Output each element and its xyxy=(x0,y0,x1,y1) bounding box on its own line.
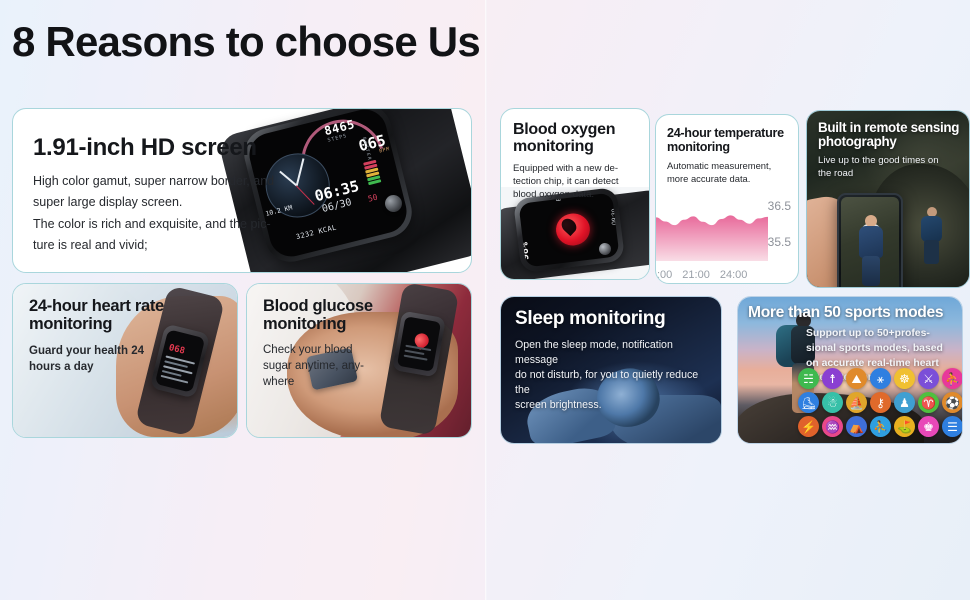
hd-screen-body-line: The color is rich and exquisite, and the… xyxy=(33,214,283,236)
sleep-title: Sleep monitoring xyxy=(515,309,709,330)
phone-viewfinder xyxy=(837,193,903,288)
sports-body-line: sional sports modes, based xyxy=(806,342,954,357)
sports-body-line: Support up to 50+profes- xyxy=(806,327,954,342)
watch-bpm-label: BPM xyxy=(379,146,391,154)
card-remote-photography[interactable]: Built in remote sensing photography Live… xyxy=(806,110,970,288)
sleep-text-block: Sleep monitoring Open the sleep mode, no… xyxy=(515,309,709,413)
temperature-title: 24-hour temperature monitoring xyxy=(667,126,789,154)
swimming-icon[interactable]: ♒ xyxy=(822,416,843,437)
blood-oxygen-title: Blood oxygen monitoring xyxy=(513,121,639,156)
running-icon[interactable]: ⛹ xyxy=(942,368,963,389)
hd-screen-text-block: 1.91-inch HD screen High color gamut, su… xyxy=(33,135,283,257)
jumping-icon[interactable]: ♈ xyxy=(918,392,939,413)
hd-screen-body-line: ture is real and vivid; xyxy=(33,235,283,257)
watch-calories-value: 3232 KCAL xyxy=(295,223,337,241)
sports-title-block: More than 50 sports modes xyxy=(748,305,954,322)
temperature-body: Automatic measurement, more accurate dat… xyxy=(667,160,789,186)
temperature-y-tick-high: 36.5 xyxy=(768,199,791,213)
sports-title: More than 50 sports modes xyxy=(748,305,954,322)
blood-oxygen-body-line: tection chip, it can detect xyxy=(513,175,639,188)
card-hd-screen[interactable]: 8465 STEPS 065 BPM 06:35 06/30 50 10.2 K… xyxy=(12,108,472,273)
tennis-icon[interactable]: ♚ xyxy=(918,416,939,437)
blood-glucose-body: Check your blood sugar anytime, any- whe… xyxy=(263,342,403,391)
remote-photography-text-block: Built in remote sensing photography Live… xyxy=(818,121,960,181)
sports-modes-icon-grid: ☵☨⛰⚹☸⚔⛹⛸☃⛵⚷♟♈⚽⚡♒⛺⛹⛳♚☰ xyxy=(798,368,956,437)
stretch-icon[interactable]: ☸ xyxy=(894,368,915,389)
page-title: 8 Reasons to choose Us xyxy=(12,18,480,66)
card-heart-rate[interactable]: 068 24-hour heart rate monitoring Guard … xyxy=(12,283,238,438)
golf-icon[interactable]: ⛳ xyxy=(894,416,915,437)
sleep-body-line: do not disturb, for you to quietly reduc… xyxy=(515,368,709,398)
remote-photography-body: Live up to the good times on the road xyxy=(818,155,960,181)
hiker-figure xyxy=(855,215,887,287)
heart-rate-text-block: 24-hour heart rate monitoring Guard your… xyxy=(29,298,179,376)
hd-screen-body-line: super large display screen. xyxy=(33,192,283,214)
heart-rate-title: 24-hour heart rate monitoring xyxy=(29,298,179,334)
temperature-x-tick: 24:00 xyxy=(720,269,748,281)
remote-photography-body-line: Live up to the good times on xyxy=(818,155,960,168)
blood-glucose-text-block: Blood glucose monitoring Check your bloo… xyxy=(263,298,403,391)
sleep-body: Open the sleep mode, notification messag… xyxy=(515,338,709,413)
blood-oxygen-photo: 98% Blood 09:30 xyxy=(501,187,649,279)
skating-icon[interactable]: ⛸ xyxy=(798,392,819,413)
temperature-body-line: more accurate data. xyxy=(667,173,789,186)
card-temperature[interactable]: 24-hour temperature monitoring Automatic… xyxy=(655,114,799,284)
temperature-x-axis: :00 21:00 24:00 xyxy=(656,269,798,281)
second-hiker-figure xyxy=(919,207,945,265)
temperature-chart: 36.5 35.5 :00 21:00 24:00 xyxy=(656,193,798,283)
climbing-icon[interactable]: ⛰ xyxy=(846,368,867,389)
blood-oxygen-body-line: blood oxygen data. xyxy=(513,188,639,201)
temperature-body-line: Automatic measurement, xyxy=(667,160,789,173)
heart-rate-body-line: Guard your health 24 xyxy=(29,343,179,360)
heart-rate-body-line: hours a day xyxy=(29,359,179,376)
hd-screen-body-line: High color gamut, super narrow border, a… xyxy=(33,171,283,193)
card-sports-modes[interactable]: More than 50 sports modes Support up to … xyxy=(737,296,963,444)
watch-seconds-value: 50 xyxy=(367,193,379,204)
sleep-body-line: Open the sleep mode, notification messag… xyxy=(515,338,709,368)
blood-oxygen-text-block: Blood oxygen monitoring Equipped with a … xyxy=(513,121,639,201)
temperature-x-tick: :00 xyxy=(657,269,672,281)
temperature-x-tick: 21:00 xyxy=(682,269,710,281)
football-icon[interactable]: ⚽ xyxy=(942,392,963,413)
infographic-background: 8 Reasons to choose Us 8465 STEPS 065 BP… xyxy=(0,0,970,600)
temperature-area-plot xyxy=(656,193,768,261)
sleep-body-line: screen brightness. xyxy=(515,398,709,413)
walking-icon[interactable]: ☵ xyxy=(798,368,819,389)
hd-screen-title: 1.91-inch HD screen xyxy=(33,135,283,161)
oxygen-drop-icon xyxy=(554,212,592,248)
card-blood-oxygen[interactable]: Blood oxygen monitoring Equipped with a … xyxy=(500,108,650,280)
blood-oxygen-body: Equipped with a new de- tection chip, it… xyxy=(513,162,639,201)
temperature-y-tick-low: 35.5 xyxy=(768,235,791,249)
cycling-icon[interactable]: ⚷ xyxy=(870,392,891,413)
hd-screen-body: High color gamut, super narrow border, a… xyxy=(33,171,283,257)
remote-photography-title: Built in remote sensing photography xyxy=(818,121,960,150)
temperature-text-block: 24-hour temperature monitoring Automatic… xyxy=(667,126,789,186)
dance-icon[interactable]: ⚔ xyxy=(918,368,939,389)
remote-photography-body-line: the road xyxy=(818,168,960,181)
basketball-icon[interactable]: ⛹ xyxy=(870,416,891,437)
blood-glucose-body-line: Check your blood xyxy=(263,342,403,358)
blood-glucose-body-line: sugar anytime, any- xyxy=(263,358,403,374)
card-sleep-monitoring[interactable]: Sleep monitoring Open the sleep mode, no… xyxy=(500,296,722,444)
yoga-icon[interactable]: ☨ xyxy=(822,368,843,389)
situp-icon[interactable]: ☰ xyxy=(942,416,963,437)
rowing-icon[interactable]: ⛵ xyxy=(846,392,867,413)
blood-oxygen-body-line: Equipped with a new de- xyxy=(513,162,639,175)
aerobics-icon[interactable]: ☃ xyxy=(822,392,843,413)
boxing-icon[interactable]: ⚡ xyxy=(798,416,819,437)
spo2-watch-screen: 98% Blood 09:30 xyxy=(518,193,619,268)
glucose-watch-screen xyxy=(397,316,441,371)
sitting-icon[interactable]: ♟ xyxy=(894,392,915,413)
card-blood-glucose[interactable]: Blood glucose monitoring Check your bloo… xyxy=(246,283,472,438)
hiking-icon[interactable]: ⛺ xyxy=(846,416,867,437)
heart-rate-body: Guard your health 24 hours a day xyxy=(29,343,179,376)
blood-glucose-body-line: where xyxy=(263,374,403,390)
blood-glucose-title: Blood glucose monitoring xyxy=(263,298,403,334)
gym-icon[interactable]: ⚹ xyxy=(870,368,891,389)
phone-screen xyxy=(841,197,899,288)
